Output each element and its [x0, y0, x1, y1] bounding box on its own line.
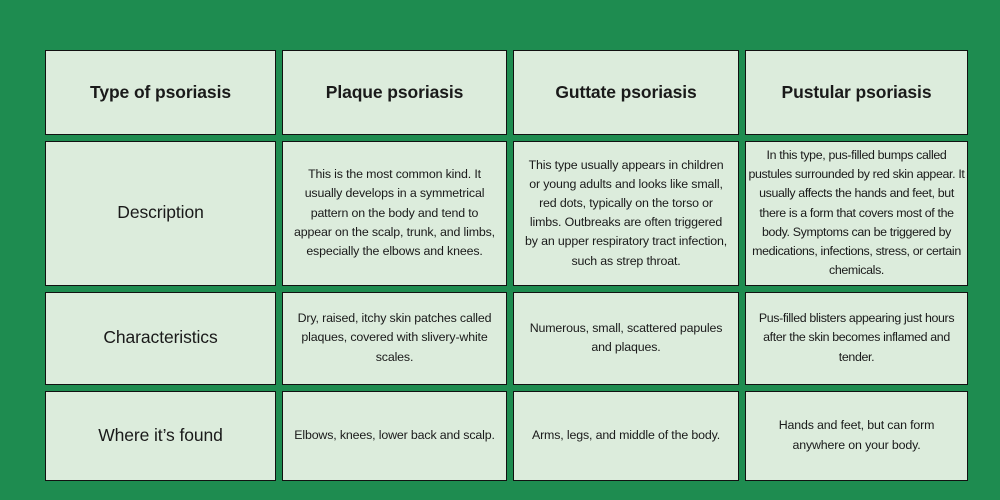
comparison-table-container: Type of psoriasis Plaque psoriasis Gutta…	[45, 50, 950, 452]
column-header-plaque: Plaque psoriasis	[282, 50, 507, 135]
cell-where-found-guttate: Arms, legs, and middle of the body.	[513, 391, 739, 481]
table-row: Description This is the most common kind…	[45, 141, 968, 286]
cell-where-found-pustular: Hands and feet, but can form anywhere on…	[745, 391, 968, 481]
cell-where-found-plaque: Elbows, knees, lower back and scalp.	[282, 391, 507, 481]
column-header-guttate: Guttate psoriasis	[513, 50, 739, 135]
table-row: Where it’s found Elbows, knees, lower ba…	[45, 391, 968, 481]
column-header-pustular: Pustular psoriasis	[745, 50, 968, 135]
cell-description-guttate: This type usually appears in children or…	[513, 141, 739, 286]
column-header-type: Type of psoriasis	[45, 50, 276, 135]
psoriasis-comparison-table: Type of psoriasis Plaque psoriasis Gutta…	[39, 44, 974, 487]
row-label-where-found: Where it’s found	[45, 391, 276, 481]
page-root: Type of psoriasis Plaque psoriasis Gutta…	[0, 0, 1000, 500]
cell-characteristics-pustular: Pus-filled blisters appearing just hours…	[745, 292, 968, 385]
row-label-description: Description	[45, 141, 276, 286]
table-row: Characteristics Dry, raised, itchy skin …	[45, 292, 968, 385]
cell-description-plaque: This is the most common kind. It usually…	[282, 141, 507, 286]
row-label-characteristics: Characteristics	[45, 292, 276, 385]
cell-characteristics-guttate: Numerous, small, scattered papules and p…	[513, 292, 739, 385]
cell-description-pustular: In this type, pus-filled bumps called pu…	[745, 141, 968, 286]
table-header-row: Type of psoriasis Plaque psoriasis Gutta…	[45, 50, 968, 135]
cell-characteristics-plaque: Dry, raised, itchy skin patches called p…	[282, 292, 507, 385]
